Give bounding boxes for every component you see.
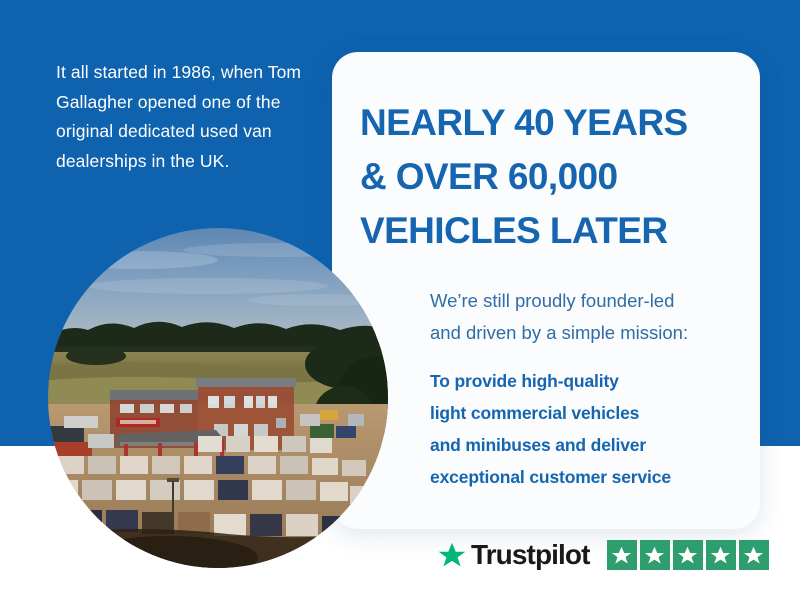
intro-paragraph: It all started in 1986, when Tom Gallagh…: [56, 58, 316, 176]
star-tile: [673, 540, 703, 570]
star-icon: [677, 545, 698, 566]
card-subheading: We’re still proudly founder-led and driv…: [430, 285, 750, 349]
trustpilot-logo[interactable]: Trustpilot: [437, 541, 590, 570]
dealership-photo-image: [48, 228, 388, 568]
trustpilot-star-icon: [437, 541, 467, 570]
headline-card: NEARLY 40 YEARS & OVER 60,000 VEHICLES L…: [332, 52, 760, 529]
star-icon: [611, 545, 632, 566]
mission-statement: To provide high-quality light commercial…: [430, 365, 760, 493]
trustpilot-wordmark: Trustpilot: [471, 541, 590, 569]
dealership-photo: [48, 228, 388, 568]
trustpilot-rating[interactable]: Trustpilot: [437, 540, 769, 570]
star-icon: [710, 545, 731, 566]
star-tile: [739, 540, 769, 570]
star-icon: [743, 545, 764, 566]
star-tile: [640, 540, 670, 570]
star-icon: [644, 545, 665, 566]
promo-banner: It all started in 1986, when Tom Gallagh…: [0, 0, 800, 600]
star-tile: [706, 540, 736, 570]
star-tile: [607, 540, 637, 570]
page-title: NEARLY 40 YEARS & OVER 60,000 VEHICLES L…: [360, 96, 740, 258]
trustpilot-star-tiles[interactable]: [607, 540, 769, 570]
